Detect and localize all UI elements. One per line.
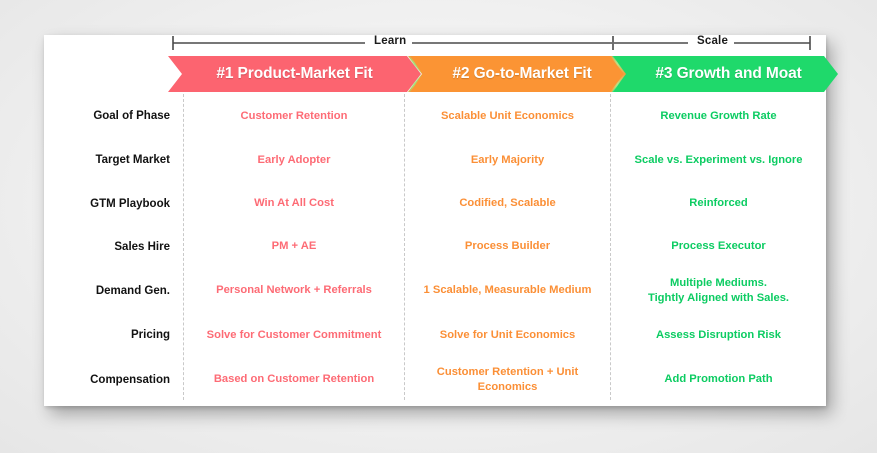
row-label: Target Market [44, 154, 184, 166]
row-value-phase2: Customer Retention + Unit Economics [404, 365, 611, 394]
table-row: GTM Playbook Win At All Cost Codified, S… [44, 182, 826, 225]
row-value-phase2: Early Majority [404, 153, 611, 168]
phase-chevron-3-label: #3 Growth and Moat [641, 65, 807, 83]
row-value-phase2: Process Builder [404, 239, 611, 254]
row-value-phase1: Based on Customer Retention [184, 372, 404, 387]
row-label: GTM Playbook [44, 198, 184, 210]
row-value-phase3: Multiple Mediums. Tightly Aligned with S… [611, 276, 826, 305]
row-value-phase2: Scalable Unit Economics [404, 109, 611, 124]
table-row: Demand Gen. Personal Network + Referrals… [44, 268, 826, 313]
row-value-phase1: Personal Network + Referrals [184, 283, 404, 298]
phase-chevron-2-label: #2 Go-to-Market Fit [436, 65, 597, 83]
row-value-phase3: Revenue Growth Rate [611, 109, 826, 124]
phase-banner: #1 Product-Market Fit #2 Go-to-Market Fi… [168, 56, 838, 92]
phase-comparison-table: Goal of Phase Customer Retention Scalabl… [44, 94, 826, 400]
row-value-phase3: Assess Disruption Risk [611, 328, 826, 343]
row-label: Compensation [44, 374, 184, 386]
row-value-phase1: Customer Retention [184, 109, 404, 124]
row-label: Pricing [44, 329, 184, 341]
row-value-phase2: Codified, Scalable [404, 196, 611, 211]
row-value-phase1: Solve for Customer Commitment [184, 328, 404, 343]
row-value-phase3: Scale vs. Experiment vs. Ignore [611, 153, 826, 168]
phase-chevron-2[interactable]: #2 Go-to-Market Fit [408, 56, 626, 92]
phase-chevron-1[interactable]: #1 Product-Market Fit [168, 56, 421, 92]
row-value-phase3: Add Promotion Path [611, 372, 826, 387]
row-value-phase2: 1 Scalable, Measurable Medium [404, 283, 611, 298]
row-label: Goal of Phase [44, 110, 184, 122]
row-value-phase3: Reinforced [611, 196, 826, 211]
row-value-phase1: Win At All Cost [184, 196, 404, 211]
table-row: Target Market Early Adopter Early Majori… [44, 138, 826, 182]
row-label: Sales Hire [44, 241, 184, 253]
bracket-label-scale: Scale [691, 35, 734, 47]
bracket-label-learn: Learn [368, 35, 412, 47]
row-value-phase3: Process Executor [611, 239, 826, 254]
table-row: Pricing Solve for Customer Commitment So… [44, 313, 826, 357]
row-value-phase1: PM + AE [184, 239, 404, 254]
table-row: Sales Hire PM + AE Process Builder Proce… [44, 225, 826, 268]
row-value-phase1: Early Adopter [184, 153, 404, 168]
phase-chevron-3[interactable]: #3 Growth and Moat [611, 56, 838, 92]
row-label: Demand Gen. [44, 285, 184, 297]
table-row: Goal of Phase Customer Retention Scalabl… [44, 94, 826, 138]
row-value-phase2: Solve for Unit Economics [404, 328, 611, 343]
phase-chevron-1-label: #1 Product-Market Fit [210, 65, 378, 83]
table-row: Compensation Based on Customer Retention… [44, 357, 826, 402]
